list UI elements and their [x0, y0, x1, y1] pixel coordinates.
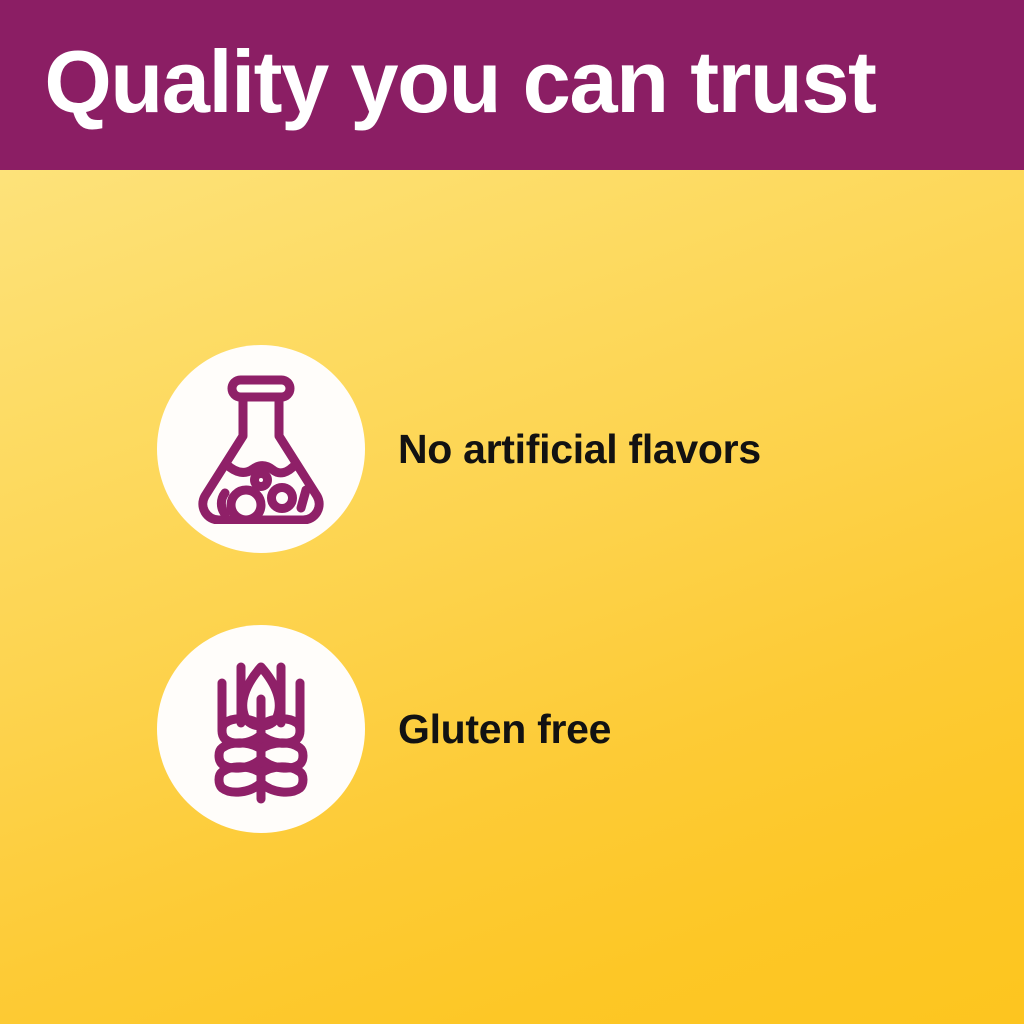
- icon-badge: [157, 345, 365, 553]
- feature-label: No artificial flavors: [398, 429, 761, 470]
- icon-badge: [157, 625, 365, 833]
- header-band: Quality you can trust: [0, 0, 1024, 170]
- wheat-icon: [191, 653, 331, 805]
- feature-label: Gluten free: [398, 709, 611, 750]
- feature-item-no-artificial-flavors: No artificial flavors: [157, 345, 761, 553]
- feature-item-gluten-free: Gluten free: [157, 625, 611, 833]
- product-claims-banner: Quality you can trust: [0, 0, 1024, 1024]
- flask-icon: [191, 374, 331, 524]
- page-title: Quality you can trust: [0, 38, 875, 126]
- body-background: [0, 170, 1024, 1024]
